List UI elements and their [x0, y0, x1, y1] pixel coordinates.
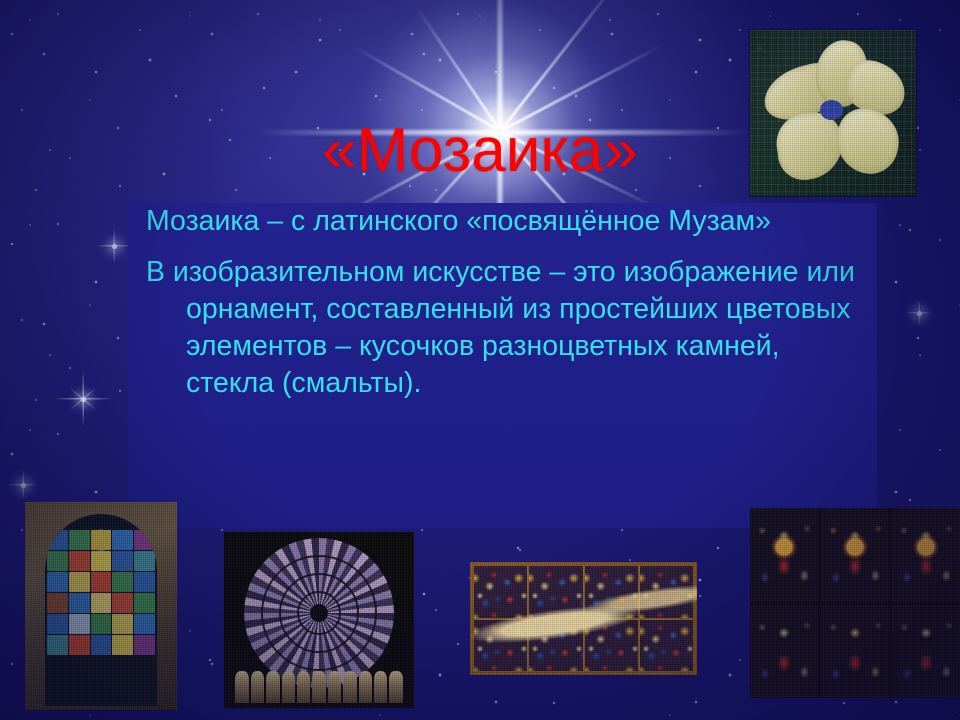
mosaic-panel-photo — [470, 562, 697, 675]
body-paragraph-1: Мозаика – с латинского «посвящённое Муза… — [128, 203, 877, 240]
gothic-window-photo — [25, 502, 177, 710]
saints-window-photo — [750, 508, 960, 698]
body-paragraph-2: В изобразительном искусстве – это изобра… — [128, 254, 877, 402]
body-text-panel: Мозаика – с латинского «посвящённое Муза… — [128, 203, 877, 528]
presentation-slide: «Мозаика» Мозаика – с латинского «посвящ… — [0, 0, 960, 720]
mosaic-flower-photo — [750, 30, 916, 196]
rose-window-photo — [224, 532, 414, 708]
